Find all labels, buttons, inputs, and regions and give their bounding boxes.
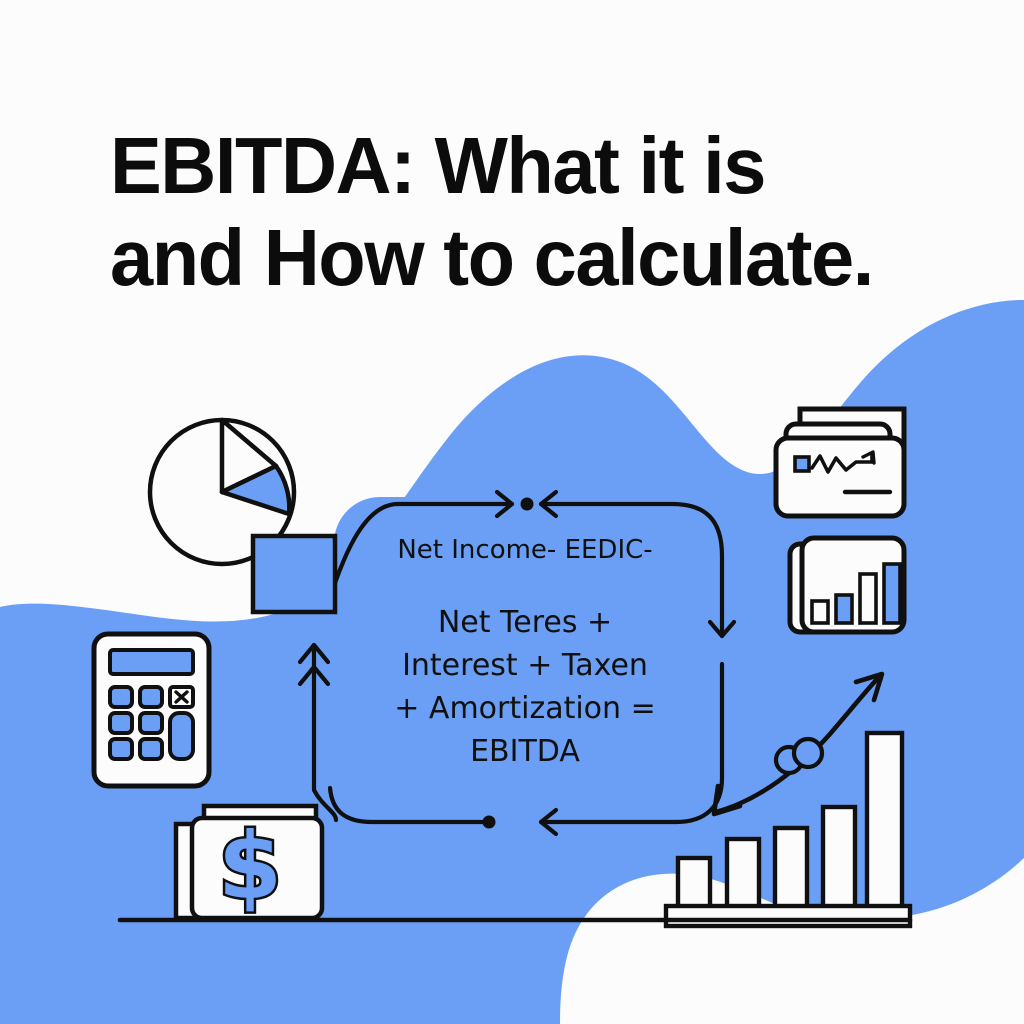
title-line-2: and How to calculate.: [110, 212, 915, 304]
formula-heading: Net Income- EEDIC-: [397, 535, 652, 565]
formula-panel: Net Income- EEDIC- Net Teres + Interest …: [334, 497, 716, 820]
formula-line-2: Interest + Taxen: [394, 644, 655, 687]
formula-line-3: + Amortization =: [394, 687, 655, 730]
infographic-canvas: EBITDA: What it is and How to calculate.…: [0, 0, 1024, 1024]
page-title: EBITDA: What it is and How to calculate.: [110, 120, 940, 304]
formula-line-1: Net Teres +: [394, 601, 655, 644]
formula-body: Net Teres + Interest + Taxen + Amortizat…: [394, 601, 655, 773]
title-line-1: EBITDA: What it is: [110, 120, 915, 212]
formula-line-4: EBITDA: [394, 730, 655, 773]
